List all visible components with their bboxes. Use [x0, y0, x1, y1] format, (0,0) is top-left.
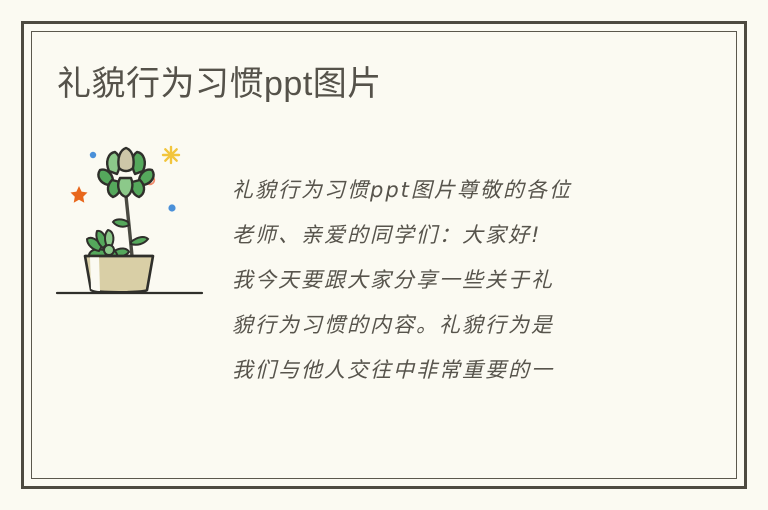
body-line: 礼貌行为习惯ppt图片尊敬的各位	[232, 168, 662, 213]
body-line: 貌行为习惯的内容。礼貌行为是	[232, 303, 662, 348]
body-line: 我今天要跟大家分享一些关于礼	[232, 258, 662, 303]
stem-side-leaf-right	[131, 237, 148, 245]
body-line: 我们与他人交往中非常重要的一	[232, 348, 662, 393]
lower-leaf-core	[104, 245, 114, 255]
blue-dot-icon	[90, 152, 96, 158]
orange-star-icon	[71, 186, 88, 203]
blue-dot-right-icon	[168, 204, 175, 211]
leaf-center-bottom	[118, 178, 132, 197]
top-leaf-cluster	[98, 148, 153, 197]
yellow-starburst-icon	[163, 147, 179, 163]
leaf-center-top	[118, 148, 133, 171]
potted-plant-illustration	[52, 138, 212, 303]
body-copy: 礼貌行为习惯ppt图片尊敬的各位 老师、亲爱的同学们：大家好! 我今天要跟大家分…	[232, 168, 662, 393]
slide-card: 礼貌行为习惯ppt图片	[0, 0, 768, 510]
stem-side-leaf-left	[113, 219, 129, 226]
page-title: 礼貌行为习惯ppt图片	[57, 62, 382, 106]
pot-highlight	[90, 257, 100, 291]
body-line: 老师、亲爱的同学们：大家好!	[232, 213, 662, 258]
